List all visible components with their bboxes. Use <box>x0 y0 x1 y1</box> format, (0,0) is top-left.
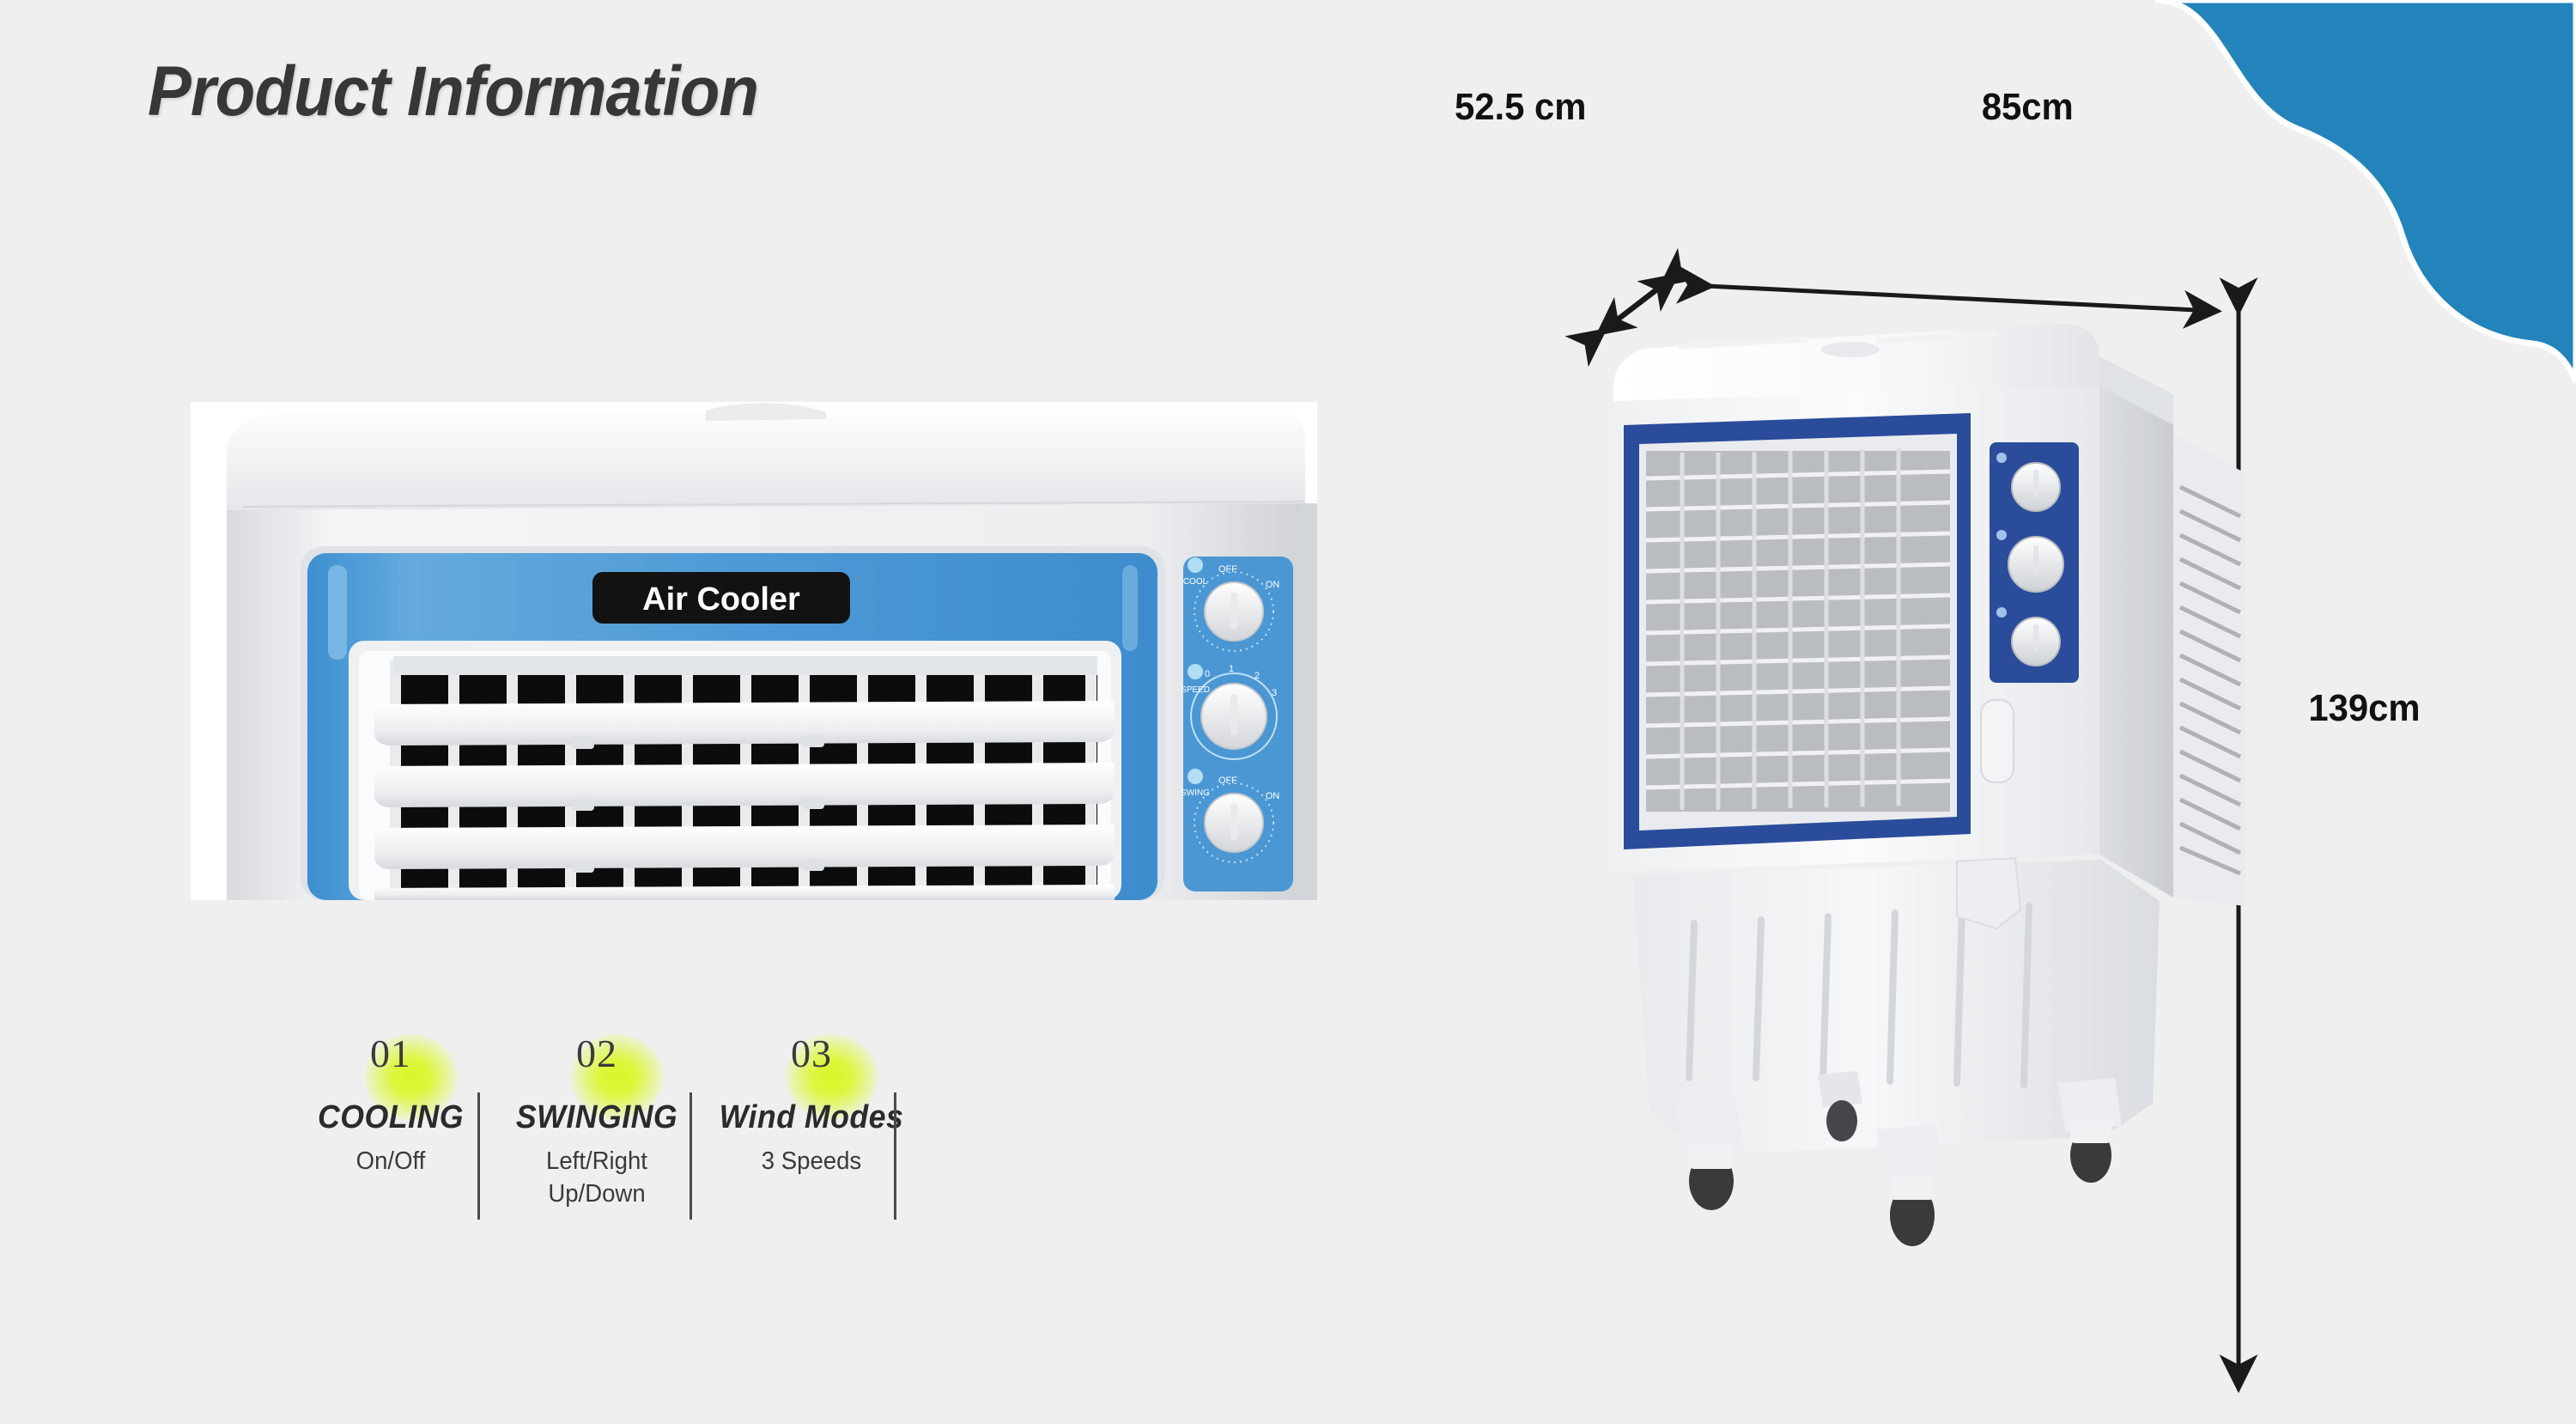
feature-divider <box>894 1092 896 1220</box>
page-title: Product Information <box>148 52 758 132</box>
feature-title: SWINGING <box>476 1099 718 1136</box>
svg-text:Air Cooler: Air Cooler <box>642 581 800 618</box>
svg-text:COOL: COOL <box>1183 577 1208 587</box>
svg-text:0: 0 <box>1205 669 1210 679</box>
product-information-page: Product Information <box>0 0 2576 1424</box>
air-cooler-iso-illustration <box>1593 305 2245 1275</box>
svg-text:SWING: SWING <box>1181 788 1210 798</box>
svg-text:3: 3 <box>1272 688 1277 698</box>
svg-text:ON: ON <box>1266 580 1280 590</box>
dimension-height-label: 139cm <box>2308 687 2420 730</box>
svg-text:ON: ON <box>1266 791 1280 801</box>
feature-item-wind-modes: 03 Wind Modes 3 Speeds <box>683 1031 940 1178</box>
svg-text:1: 1 <box>1229 664 1234 674</box>
air-cooler-front-illustration: Air Cooler <box>191 402 1317 900</box>
feature-subtitle: 3 Speeds <box>690 1145 934 1178</box>
dimension-width-label: 85cm <box>1982 86 2074 129</box>
feature-number: 01 <box>370 1031 411 1075</box>
svg-text:OFF: OFF <box>1218 776 1237 786</box>
feature-list: 01 COOLING On/Off 02 SWINGING Left/Right… <box>219 1031 1335 1288</box>
product-front-photo: Air Cooler <box>191 402 1317 900</box>
dimension-depth-label: 52.5 cm <box>1455 86 1586 129</box>
feature-subtitle-line2: Up/Down <box>475 1178 720 1210</box>
feature-number: 03 <box>791 1031 832 1075</box>
feature-number: 02 <box>576 1031 617 1075</box>
feature-divider <box>690 1092 692 1220</box>
svg-text:OFF: OFF <box>1218 564 1237 575</box>
svg-text:2: 2 <box>1255 671 1260 681</box>
svg-text:SPEED: SPEED <box>1181 685 1210 695</box>
feature-divider <box>477 1092 480 1220</box>
feature-number-wrap: 03 <box>683 1031 940 1091</box>
